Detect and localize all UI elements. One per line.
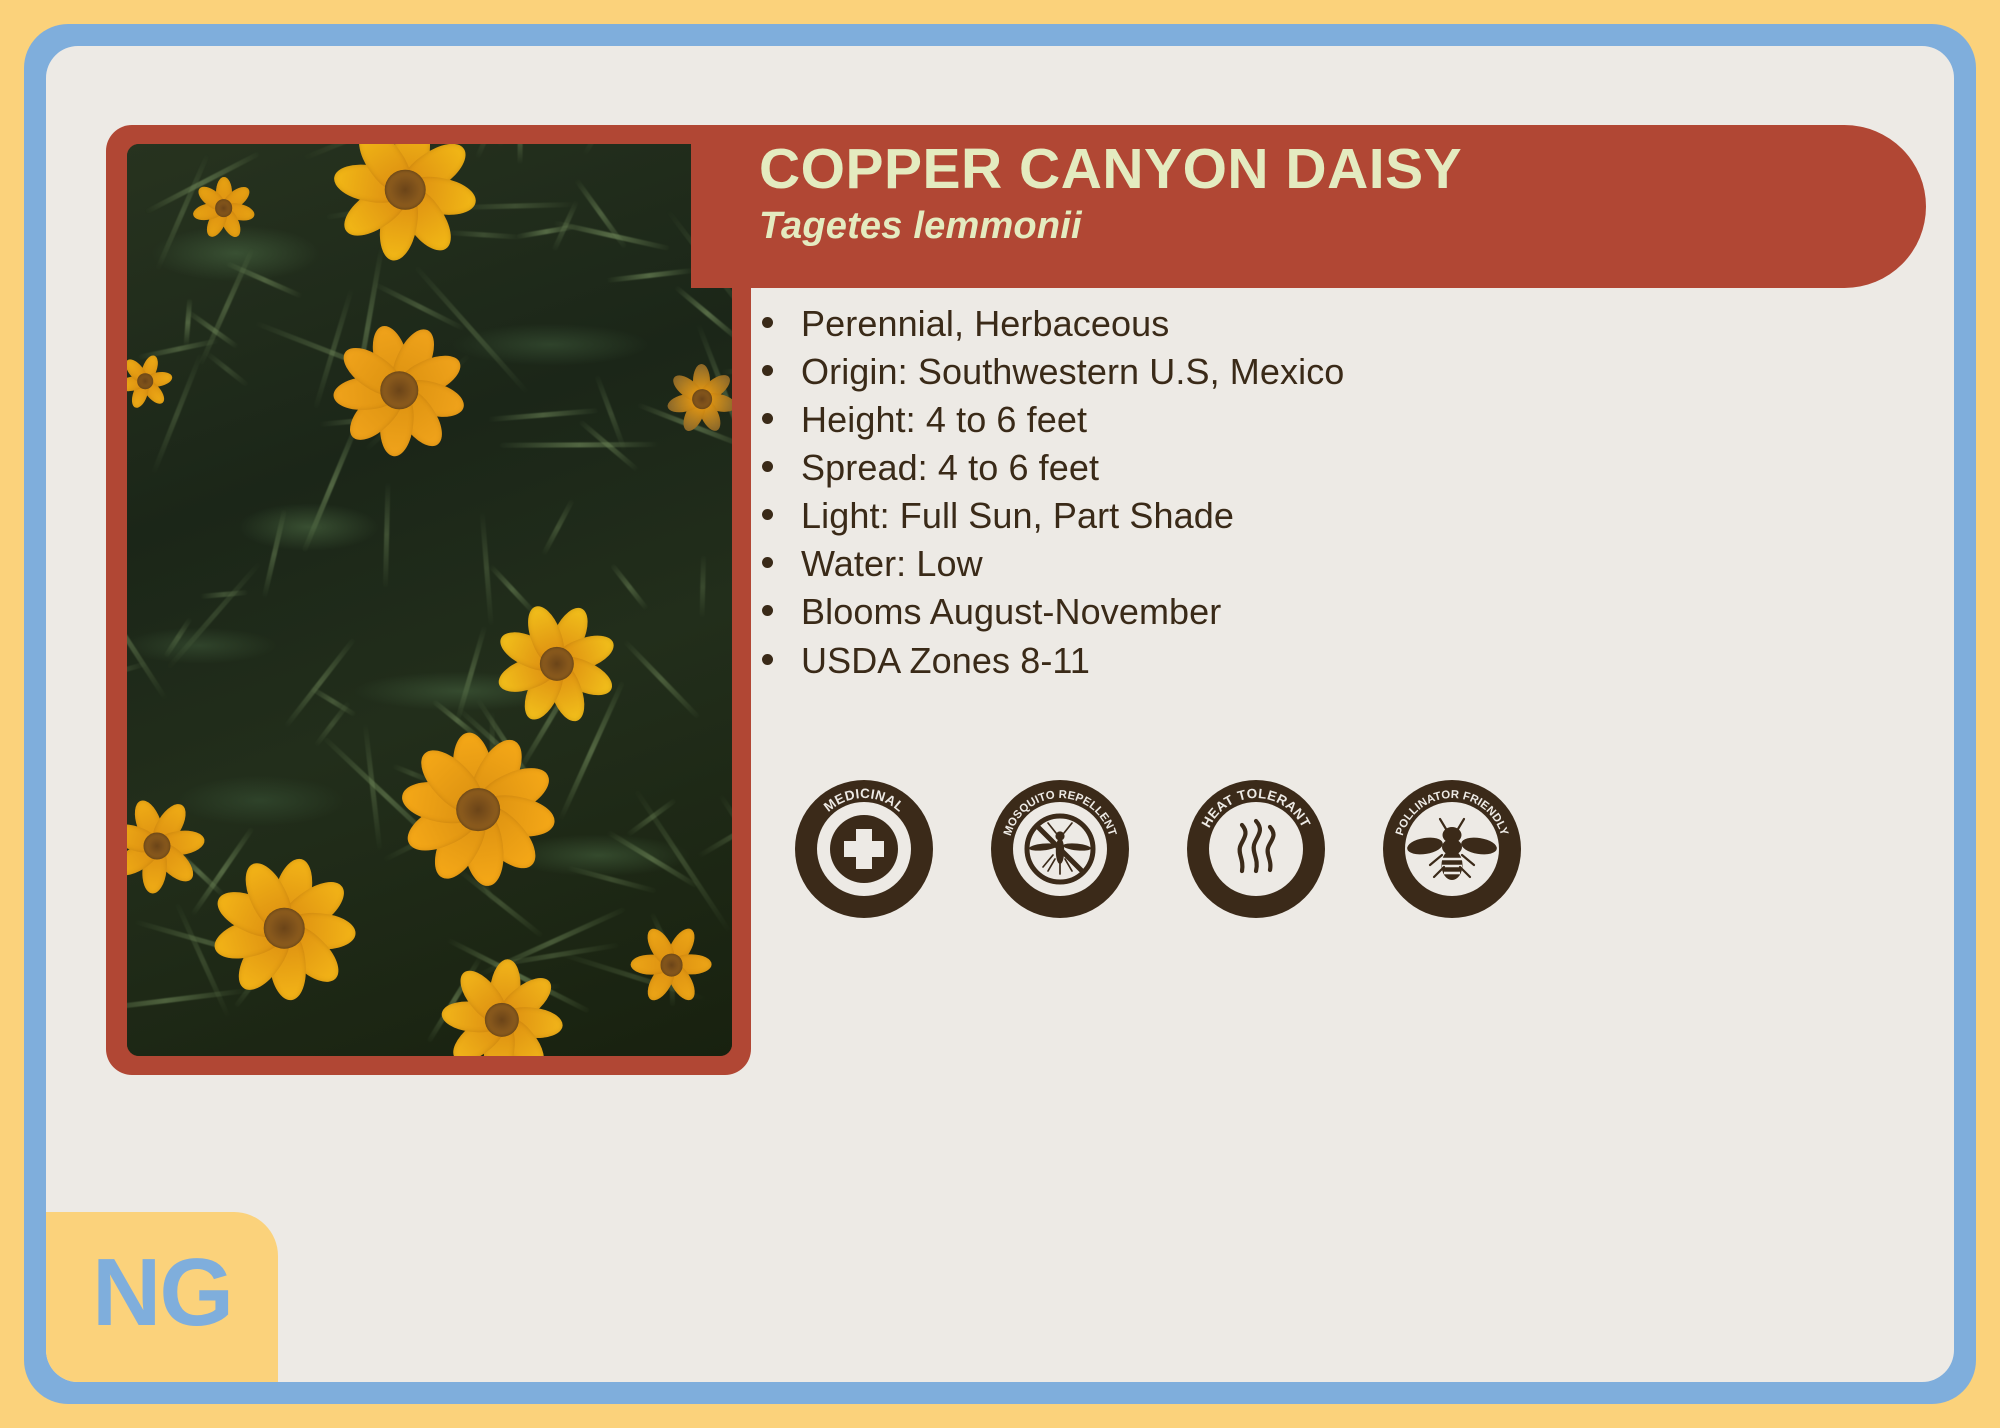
fact-item: Blooms August-November [762, 589, 1892, 635]
fact-label: Height: 4 to 6 feet [801, 397, 1087, 443]
badge-heat-tolerant: HEAT TOLERANT [1186, 779, 1326, 919]
daisy-flower [491, 598, 623, 730]
fact-item: Water: Low [762, 541, 1892, 587]
plant-photo [127, 144, 732, 1056]
fact-label: Blooms August-November [801, 589, 1221, 635]
badge-medicinal: MEDICINAL [794, 779, 934, 919]
bullet-icon [762, 413, 773, 424]
daisy-flower [628, 921, 716, 1009]
daisy-flower [190, 174, 258, 242]
flower-center [692, 389, 712, 409]
fact-label: Perennial, Herbaceous [801, 301, 1169, 347]
bullet-icon [762, 365, 773, 376]
bullet-icon [762, 605, 773, 616]
fact-label: Light: Full Sun, Part Shade [801, 493, 1234, 539]
attribute-badges: MEDICINAL MOSQUITO REPELLENT [794, 779, 1522, 919]
leaf-frond [699, 556, 706, 619]
fact-item: Origin: Southwestern U.S, Mexico [762, 349, 1892, 395]
daisy-flower [127, 794, 209, 898]
daisy-flower [327, 144, 483, 268]
fact-item: USDA Zones 8-11 [762, 638, 1892, 684]
heat-waves-icon: HEAT TOLERANT [1186, 779, 1326, 919]
photo-frame [106, 125, 751, 1075]
daisy-flower [127, 351, 175, 411]
daisy-flower [206, 850, 362, 1006]
flower-center [660, 953, 683, 976]
bee-icon: POLLINATOR FRIENDLY [1382, 779, 1522, 919]
mosquito-prohibited-icon: MOSQUITO REPELLENT [990, 779, 1130, 919]
bullet-icon [762, 654, 773, 665]
daisy-flower [436, 954, 568, 1056]
brand-logo: NG [46, 1212, 278, 1382]
bullet-icon [762, 317, 773, 328]
flower-center [264, 908, 305, 949]
flower-center [144, 833, 171, 860]
page-title: COPPER CANYON DAISY [759, 139, 1926, 201]
bullet-icon [762, 509, 773, 520]
badge-mosquito-repellent: MOSQUITO REPELLENT [990, 779, 1130, 919]
flower-center [385, 169, 426, 210]
bullet-icon [762, 557, 773, 568]
plus-cross-icon: MEDICINAL [794, 779, 934, 919]
daisy-flower [394, 726, 562, 894]
bullet-icon [762, 461, 773, 472]
fact-item: Spread: 4 to 6 feet [762, 445, 1892, 491]
fact-label: Water: Low [801, 541, 983, 587]
fact-label: Origin: Southwestern U.S, Mexico [801, 349, 1344, 395]
flower-center [215, 199, 233, 217]
flower-center [137, 373, 153, 389]
title-banner: COPPER CANYON DAISY Tagetes lemmonii [691, 125, 1926, 288]
fact-item: Height: 4 to 6 feet [762, 397, 1892, 443]
daisy-flower [327, 318, 471, 462]
fact-item: Perennial, Herbaceous [762, 301, 1892, 347]
leaf-frond [518, 144, 523, 165]
daisy-flower [664, 361, 732, 437]
fact-item: Light: Full Sun, Part Shade [762, 493, 1892, 539]
flower-center [456, 788, 500, 832]
plant-facts-list: Perennial, HerbaceousOrigin: Southwester… [762, 301, 1892, 686]
scientific-name: Tagetes lemmonii [759, 205, 1926, 248]
logo-text: NG [92, 1245, 232, 1341]
fact-label: Spread: 4 to 6 feet [801, 445, 1099, 491]
fact-label: USDA Zones 8-11 [801, 638, 1090, 684]
badge-pollinator-friendly: POLLINATOR FRIENDLY [1382, 779, 1522, 919]
plant-info-card: COPPER CANYON DAISY Tagetes lemmonii Per… [46, 46, 1954, 1382]
